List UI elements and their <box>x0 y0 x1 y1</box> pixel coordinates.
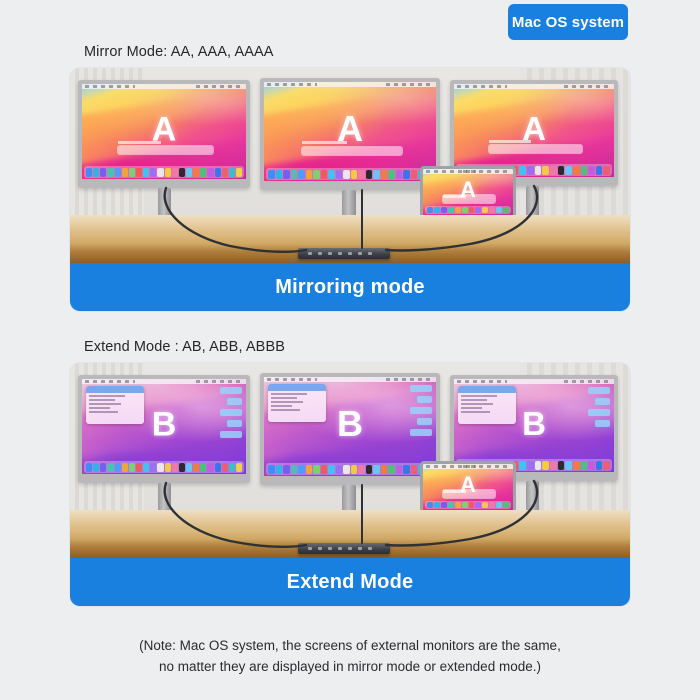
cable-left <box>70 68 630 263</box>
badge-row: Mac OS system <box>0 0 700 44</box>
extend-mode-banner: Extend Mode <box>70 558 630 606</box>
footer-note-line-1: (Note: Mac OS system, the screens of ext… <box>0 636 700 657</box>
cable-right <box>70 363 630 558</box>
mirror-mode-title: Mirror Mode: AA, AAA, AAAA <box>84 44 274 60</box>
extend-scene: B <box>70 363 630 558</box>
mirroring-mode-banner: Mirroring mode <box>70 263 630 311</box>
extend-mode-panel: B <box>70 363 630 606</box>
os-badge: Mac OS system <box>508 4 628 40</box>
footer-note: (Note: Mac OS system, the screens of ext… <box>0 636 700 678</box>
mirror-mode-panel: A <box>70 68 630 311</box>
extend-mode-title: Extend Mode : AB, ABB, ABBB <box>84 339 285 355</box>
mirror-scene: A <box>70 68 630 263</box>
footer-note-line-2: no matter they are displayed in mirror m… <box>0 657 700 678</box>
